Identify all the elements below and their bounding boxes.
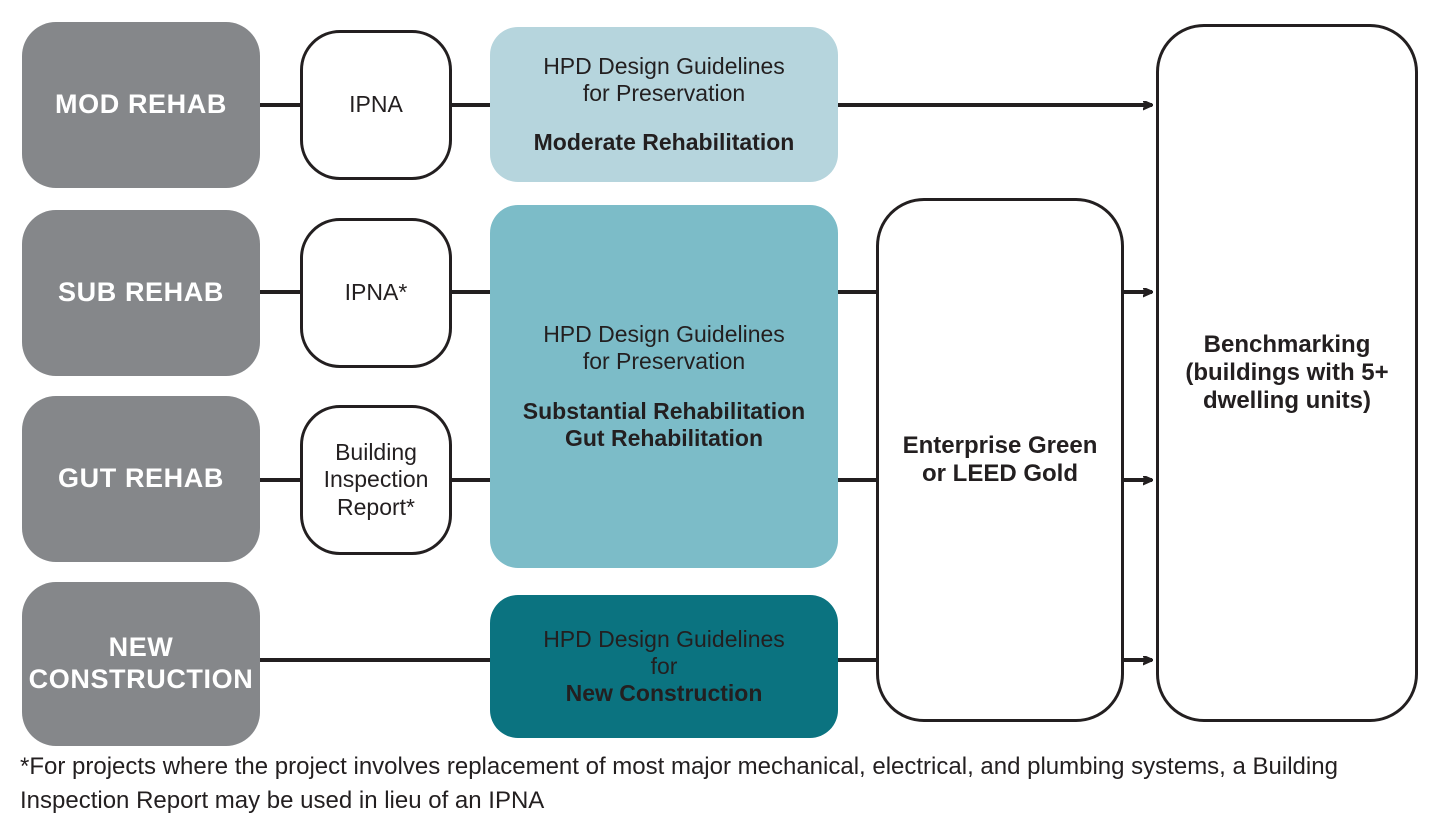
stage-new-construction-label-line2: CONSTRUCTION xyxy=(29,664,254,696)
guidelines-moderate-regular-line1: HPD Design Guidelines xyxy=(543,53,785,80)
assessment-building-inspection-report-line2: Inspection xyxy=(324,466,429,493)
guidelines-new-construction[interactable]: HPD Design Guidelines for New Constructi… xyxy=(490,595,838,738)
stage-sub-rehab-label: SUB REHAB xyxy=(58,277,224,309)
benchmarking-line3: dwelling units) xyxy=(1203,387,1371,415)
stage-sub-rehab[interactable]: SUB REHAB xyxy=(22,210,260,376)
guidelines-substantial-regular-line1: HPD Design Guidelines xyxy=(543,321,785,348)
footnote-text: *For projects where the project involves… xyxy=(20,750,1400,818)
assessment-building-inspection-report[interactable]: Building Inspection Report* xyxy=(300,405,452,555)
assessment-ipna-asterisk[interactable]: IPNA* xyxy=(300,218,452,368)
guidelines-substantial-bold-line2: Gut Rehabilitation xyxy=(565,425,763,452)
assessment-building-inspection-report-line3: Report* xyxy=(337,494,415,521)
assessment-building-inspection-report-line1: Building xyxy=(335,439,417,466)
guidelines-substantial-bold-line1: Substantial Rehabilitation xyxy=(523,398,805,425)
certification-line2: or LEED Gold xyxy=(922,460,1078,488)
guidelines-moderate-regular-line2: for Preservation xyxy=(583,80,745,107)
guidelines-substantial-regular-line2: for Preservation xyxy=(583,348,745,375)
benchmarking-line2: (buildings with 5+ xyxy=(1185,359,1388,387)
benchmarking-box[interactable]: Benchmarking (buildings with 5+ dwelling… xyxy=(1156,24,1418,722)
guidelines-newconstruction-regular-line1: HPD Design Guidelines xyxy=(543,626,785,653)
stage-gut-rehab-label: GUT REHAB xyxy=(58,463,224,495)
certification-enterprise-green-or-leed-gold[interactable]: Enterprise Green or LEED Gold xyxy=(876,198,1124,722)
guidelines-moderate-rehabilitation[interactable]: HPD Design Guidelines for Preservation M… xyxy=(490,27,838,182)
guidelines-newconstruction-regular-line2: for xyxy=(651,653,678,680)
assessment-ipna-label: IPNA xyxy=(349,91,403,118)
stage-new-construction[interactable]: NEW CONSTRUCTION xyxy=(22,582,260,746)
assessment-ipna[interactable]: IPNA xyxy=(300,30,452,180)
guidelines-newconstruction-bold-line1: New Construction xyxy=(566,680,763,707)
assessment-ipna-asterisk-label: IPNA* xyxy=(345,279,408,306)
guidelines-substantial-gut-rehabilitation[interactable]: HPD Design Guidelines for Preservation S… xyxy=(490,205,838,568)
certification-line1: Enterprise Green xyxy=(903,432,1098,460)
stage-gut-rehab[interactable]: GUT REHAB xyxy=(22,396,260,562)
stage-mod-rehab-label: MOD REHAB xyxy=(55,89,227,121)
stage-mod-rehab[interactable]: MOD REHAB xyxy=(22,22,260,188)
benchmarking-line1: Benchmarking xyxy=(1204,331,1371,359)
guidelines-moderate-bold-line1: Moderate Rehabilitation xyxy=(534,129,795,156)
flowchart-diagram: MOD REHAB SUB REHAB GUT REHAB NEW CONSTR… xyxy=(0,0,1437,833)
stage-new-construction-label-line1: NEW xyxy=(109,632,174,664)
